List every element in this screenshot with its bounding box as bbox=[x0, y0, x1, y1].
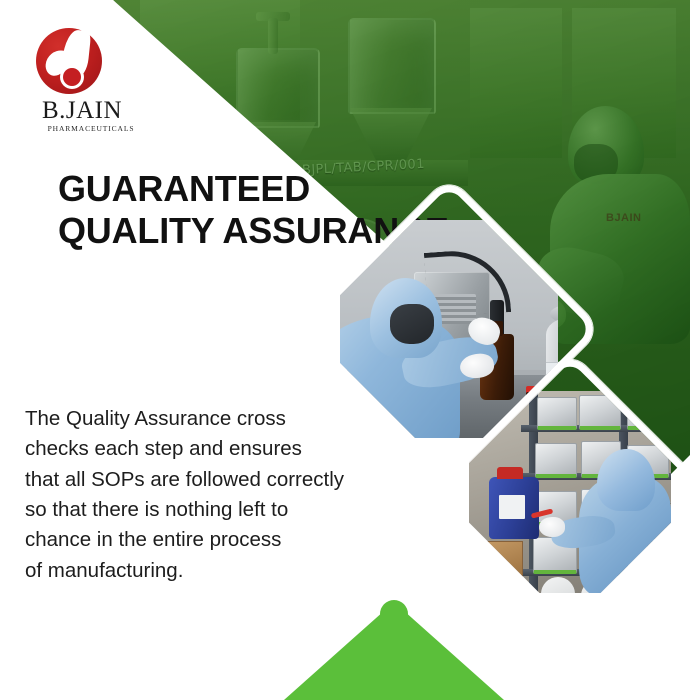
body-line-4: so that there is nothing left to bbox=[25, 495, 365, 525]
warehouse-operator-hood bbox=[597, 449, 655, 511]
body-paragraph: The Quality Assurance cross checks each … bbox=[25, 404, 365, 586]
steel-canister-band bbox=[546, 362, 558, 374]
drum-label bbox=[499, 495, 525, 519]
bjain-flame-circle-logo-icon bbox=[36, 28, 102, 94]
shelf-box bbox=[535, 443, 577, 478]
brand-logo: B.JAIN PHARMACEUTICALS bbox=[22, 28, 142, 133]
shelf-box bbox=[579, 395, 621, 430]
quality-assurance-poster: Adinath BJPL/TAB/CPR/001 BJAIN B.JAIN PH… bbox=[0, 0, 690, 700]
lab-scene bbox=[340, 220, 558, 438]
brand-tagline: PHARMACEUTICALS bbox=[40, 124, 142, 133]
body-line-3: that all SOPs are followed correctly bbox=[25, 465, 365, 495]
body-line-5: chance in the entire process bbox=[25, 525, 365, 555]
logo-dot-shape bbox=[63, 68, 81, 86]
lab-photo-inner bbox=[340, 220, 558, 438]
body-line-1: The Quality Assurance cross bbox=[25, 404, 365, 434]
headline-line-1: GUARANTEED bbox=[58, 168, 449, 210]
brand-name: B.JAIN bbox=[22, 98, 142, 123]
body-line-2: checks each step and ensures bbox=[25, 434, 365, 464]
body-line-6: of manufacturing. bbox=[25, 556, 365, 586]
warehouse-operator-glove bbox=[539, 517, 565, 537]
shelf-box bbox=[537, 397, 577, 430]
lab-operator-visor bbox=[390, 304, 434, 344]
